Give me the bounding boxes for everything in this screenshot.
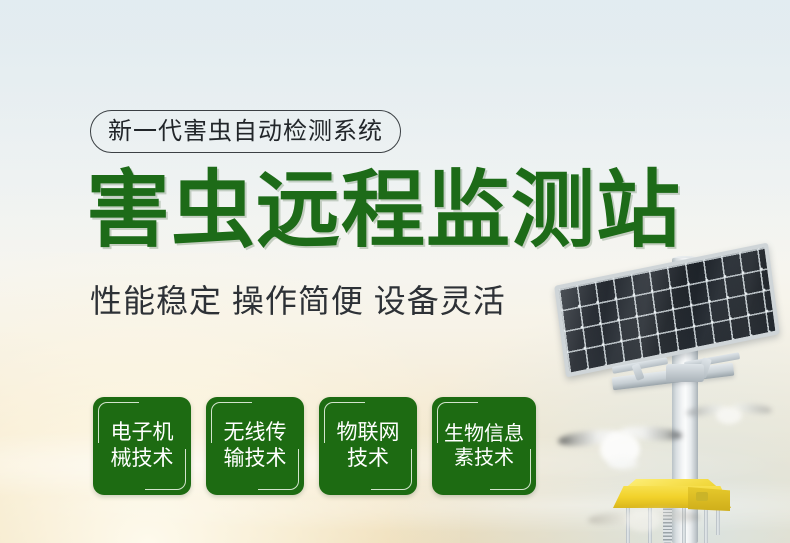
eyebrow-text: 新一代害虫自动检测系统	[108, 120, 383, 144]
feature-badge-label: 物联网技术	[334, 420, 402, 471]
feature-badge-internet-of-things[interactable]: 物联网技术	[319, 397, 417, 495]
feature-badge-label: 生物信息素技术	[442, 422, 526, 471]
feature-badge-wireless-transmission[interactable]: 无线传输技术	[206, 397, 304, 495]
feature-badge-label: 电子机械技术	[108, 420, 176, 471]
page-title: 害虫远程监测站	[86, 168, 681, 252]
eyebrow-badge: 新一代害虫自动检测系统	[90, 110, 401, 153]
feature-badge-bio-pheromone[interactable]: 生物信息素技术	[432, 397, 536, 495]
feature-badge-row: 电子机械技术 无线传输技术 物联网技术 生物信息素技术	[93, 397, 536, 495]
page-subtitle: 性能稳定 操作简便 设备灵活	[90, 285, 506, 317]
pest-monitoring-station-banner: 新一代害虫自动检测系统 害虫远程监测站 性能稳定 操作简便 设备灵活 电子机械技…	[0, 0, 790, 543]
feature-badge-electro-mechanical[interactable]: 电子机械技术	[93, 397, 191, 495]
feature-badge-label: 无线传输技术	[221, 420, 289, 471]
